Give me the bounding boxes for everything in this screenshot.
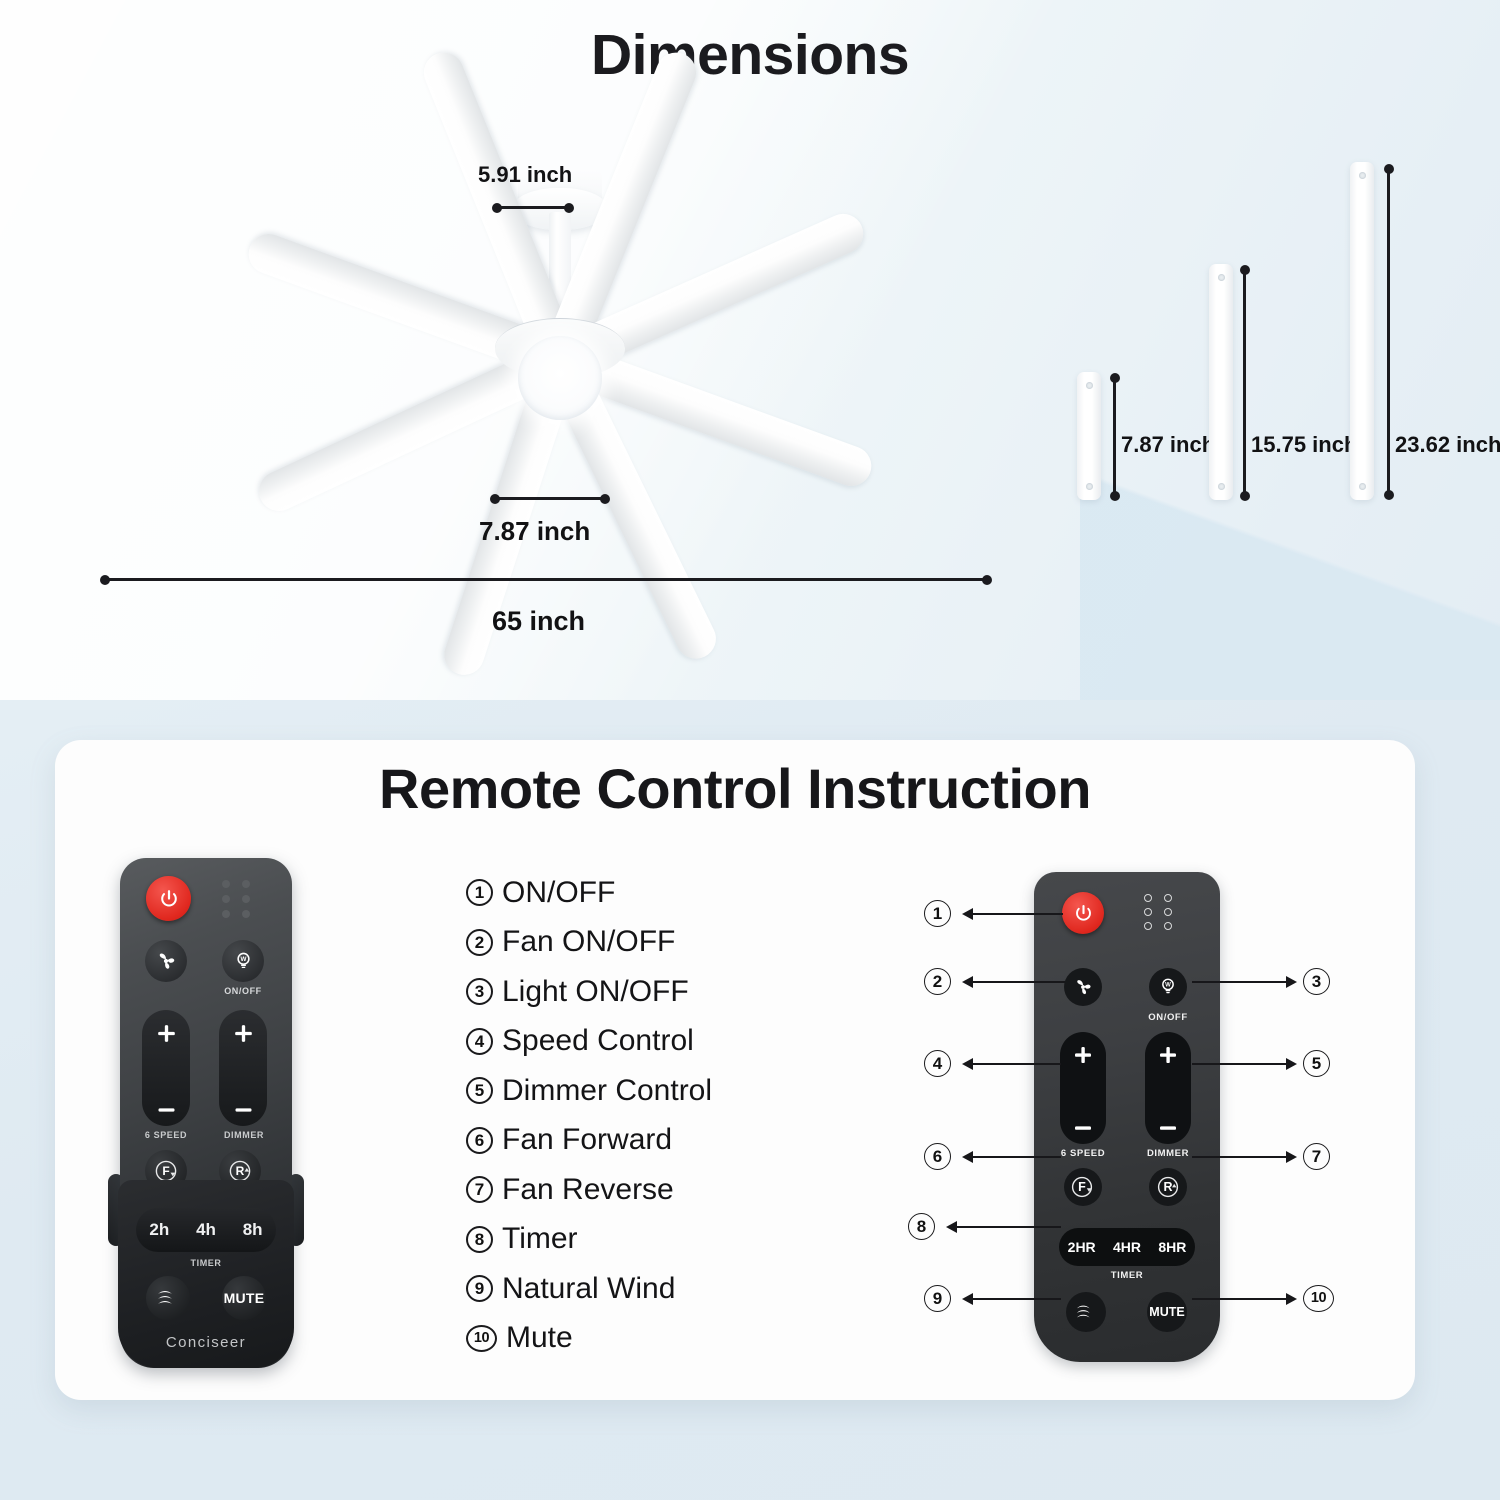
natural-wind-button[interactable] (146, 1276, 190, 1320)
fan-forward-button[interactable]: F (1064, 1168, 1102, 1206)
dimension-label-blade-span: 65 inch (492, 606, 585, 637)
callout-number: 10 (1303, 1285, 1334, 1312)
callout-arrow-2 (962, 976, 973, 988)
section-title-remote-control: Remote Control Instruction (55, 756, 1415, 821)
dimension-line-housing-width (492, 497, 608, 500)
light-onoff-button[interactable]: W (222, 940, 264, 982)
downrod-hole (1359, 483, 1366, 490)
minus-icon (1071, 1123, 1095, 1133)
legend-number: 9 (466, 1275, 493, 1302)
timer-caption: TIMER (1097, 1270, 1157, 1281)
brand-logo: Conciseer (118, 1334, 294, 1351)
callout-3: 3 (1303, 968, 1330, 995)
indicator-dots (1144, 894, 1172, 930)
callout-leader-line-5 (1192, 1063, 1292, 1065)
callout-leader-line-1 (973, 913, 1063, 915)
minus-icon (154, 1105, 179, 1115)
timer-2h-label: 2h (149, 1220, 169, 1240)
list-item: 4 Speed Control (466, 1017, 796, 1067)
callout-2: 2 (924, 968, 951, 995)
reverse-letter: R (1163, 1180, 1172, 1194)
svg-text:W: W (1165, 982, 1171, 988)
legend-number: 2 (466, 929, 493, 956)
downrod-hole (1218, 274, 1225, 281)
legend-label: Timer (502, 1222, 578, 1256)
callout-7: 7 (1303, 1143, 1330, 1170)
fan-onoff-button[interactable] (145, 940, 187, 982)
power-icon (158, 888, 180, 910)
legend-number: 10 (466, 1325, 497, 1352)
dimension-line-rod-15-75 (1243, 267, 1246, 499)
dimension-line-canopy-width (494, 206, 572, 209)
mute-label: MUTE (224, 1290, 265, 1306)
callout-leader-line-7 (1192, 1156, 1292, 1158)
callout-number: 1 (924, 900, 951, 927)
legend-number: 5 (466, 1077, 493, 1104)
dimmer-caption: DIMMER (1138, 1148, 1198, 1159)
legend-number: 4 (466, 1028, 493, 1055)
legend-label: Dimmer Control (502, 1074, 712, 1108)
power-icon (1073, 903, 1094, 924)
callout-arrow-4 (962, 1058, 973, 1070)
callout-arrow-7 (1286, 1151, 1297, 1163)
legend-label: ON/OFF (502, 876, 615, 910)
legend-label: Fan ON/OFF (502, 925, 675, 959)
downrod-hole (1218, 483, 1225, 490)
callout-4: 4 (924, 1050, 951, 1077)
dimension-label-housing-width: 7.87 inch (479, 516, 590, 547)
callout-number: 6 (924, 1143, 951, 1170)
callout-6: 6 (924, 1143, 951, 1170)
callout-arrow-3 (1286, 976, 1297, 988)
downrod-7-87 (1077, 372, 1101, 500)
reverse-arrow-icon: R (1153, 1172, 1183, 1202)
legend-number: 1 (466, 879, 493, 906)
remote-control-diagram: W ON/OFF 6 SPEED DIMMER F R (1034, 872, 1220, 1362)
legend-label: Mute (506, 1321, 573, 1355)
fan-reverse-button[interactable]: R (1149, 1168, 1187, 1206)
power-button[interactable] (146, 876, 191, 921)
downrod-23-62 (1350, 162, 1374, 500)
callout-number: 2 (924, 968, 951, 995)
dimension-label-rod-7-87: 7.87 inch (1121, 432, 1215, 458)
dimension-label-rod-15-75: 15.75 inch (1251, 432, 1357, 458)
callout-arrow-6 (962, 1151, 973, 1163)
mute-button[interactable]: MUTE (1147, 1292, 1187, 1332)
callout-1: 1 (924, 900, 951, 927)
wind-waves-icon (1074, 1302, 1098, 1322)
callout-leader-line-10 (1192, 1298, 1292, 1300)
legend-number: 6 (466, 1127, 493, 1154)
fan-onoff-button[interactable] (1064, 968, 1102, 1006)
legend-number: 8 (466, 1226, 493, 1253)
forward-letter: F (1078, 1180, 1086, 1194)
light-button-caption: ON/OFF (214, 986, 272, 996)
remote-control-photo: W ON/OFF 6 SPEED DIMMER F R (108, 858, 304, 1368)
downrod-hole (1359, 172, 1366, 179)
speed-caption: 6 SPEED (136, 1130, 196, 1140)
callout-number: 8 (908, 1213, 935, 1240)
timer-button-group[interactable]: 2HR 4HR 8HR (1059, 1228, 1195, 1266)
list-item: 2 Fan ON/OFF (466, 918, 796, 968)
callout-arrow-8 (946, 1221, 957, 1233)
list-item: 7 Fan Reverse (466, 1165, 796, 1215)
list-item: 5 Dimmer Control (466, 1066, 796, 1116)
callout-number: 5 (1303, 1050, 1330, 1077)
remote-function-legend: 1 ON/OFF 2 Fan ON/OFF 3 Light ON/OFF 4 S… (466, 868, 796, 1363)
callout-9: 9 (924, 1285, 951, 1312)
list-item: 10 Mute (466, 1314, 796, 1364)
wind-waves-icon (155, 1287, 181, 1309)
callout-5: 5 (1303, 1050, 1330, 1077)
legend-label: Natural Wind (502, 1272, 675, 1306)
callout-arrow-10 (1286, 1293, 1297, 1305)
callout-leader-line-2 (973, 981, 1065, 983)
callout-leader-line-8 (957, 1226, 1061, 1228)
legend-label: Light ON/OFF (502, 975, 689, 1009)
timer-4h-label: 4h (196, 1220, 216, 1240)
timer-caption: TIMER (176, 1258, 236, 1268)
legend-number: 7 (466, 1176, 493, 1203)
list-item: 8 Timer (466, 1215, 796, 1265)
timer-8h-label: 8h (243, 1220, 263, 1240)
list-item: 3 Light ON/OFF (466, 967, 796, 1017)
callout-leader-line-4 (973, 1063, 1061, 1065)
forward-letter: F (162, 1164, 169, 1178)
callout-leader-line-6 (973, 1156, 1061, 1158)
list-item: 6 Fan Forward (466, 1116, 796, 1166)
plus-icon (154, 1021, 179, 1046)
dimension-line-blade-span (102, 578, 990, 581)
dimmer-control-button[interactable] (219, 1010, 267, 1126)
callout-leader-line-9 (973, 1298, 1061, 1300)
plus-icon (1071, 1043, 1095, 1067)
legend-label: Speed Control (502, 1024, 694, 1058)
indicator-dots (222, 880, 250, 918)
dimension-line-rod-7-87 (1113, 375, 1116, 499)
page-title-dimensions: Dimensions (0, 22, 1500, 88)
minus-icon (1156, 1123, 1180, 1133)
light-bulb-icon: W (1157, 976, 1179, 998)
callout-number: 7 (1303, 1143, 1330, 1170)
timer-button-group[interactable]: 2h 4h 8h (136, 1208, 276, 1252)
callout-number: 3 (1303, 968, 1330, 995)
dimmer-caption: DIMMER (214, 1130, 274, 1140)
dimension-line-rod-23-62 (1387, 166, 1390, 498)
list-item: 1 ON/OFF (466, 868, 796, 918)
remote-diagram-body: W ON/OFF 6 SPEED DIMMER F R (1034, 872, 1220, 1362)
light-bulb-icon: W (232, 950, 255, 973)
fan-icon (1072, 976, 1094, 998)
legend-label: Fan Reverse (502, 1173, 674, 1207)
dimension-label-rod-23-62: 23.62 inch (1395, 432, 1500, 458)
fan-icon (154, 949, 178, 973)
callout-arrow-9 (962, 1293, 973, 1305)
minus-icon (231, 1105, 256, 1115)
plus-icon (231, 1021, 256, 1046)
plus-icon (1156, 1043, 1180, 1067)
legend-number: 3 (466, 978, 493, 1005)
light-button-caption: ON/OFF (1138, 1012, 1198, 1023)
downrod-15-75 (1209, 264, 1233, 500)
downrod-hole (1086, 382, 1093, 389)
timer-2hr-label: 2HR (1068, 1239, 1096, 1255)
downrod-hole (1086, 483, 1093, 490)
power-button[interactable] (1062, 892, 1104, 934)
mute-button[interactable]: MUTE (222, 1276, 266, 1320)
callout-8: 8 (908, 1213, 935, 1240)
speed-control-button[interactable] (142, 1010, 190, 1126)
dimmer-control-button[interactable] (1145, 1032, 1191, 1144)
callout-number: 9 (924, 1285, 951, 1312)
dimension-label-canopy-width: 5.91 inch (478, 162, 572, 188)
legend-label: Fan Forward (502, 1123, 672, 1157)
callout-arrow-1 (962, 908, 973, 920)
forward-arrow-icon: F (1068, 1172, 1098, 1202)
fan-led-light (518, 336, 602, 420)
callout-arrow-5 (1286, 1058, 1297, 1070)
remote-lower-panel: 2h 4h 8h TIMER MUTE Conciseer (118, 1180, 294, 1368)
svg-text:W: W (240, 955, 246, 962)
callout-number: 4 (924, 1050, 951, 1077)
timer-8hr-label: 8HR (1158, 1239, 1186, 1255)
mute-label: MUTE (1149, 1305, 1184, 1319)
reverse-letter: R (236, 1164, 245, 1178)
list-item: 9 Natural Wind (466, 1264, 796, 1314)
speed-caption: 6 SPEED (1053, 1148, 1113, 1159)
timer-4hr-label: 4HR (1113, 1239, 1141, 1255)
callout-10: 10 (1303, 1285, 1334, 1312)
speed-control-button[interactable] (1060, 1032, 1106, 1144)
natural-wind-button[interactable] (1066, 1292, 1106, 1332)
light-onoff-button[interactable]: W (1149, 968, 1187, 1006)
callout-leader-line-3 (1192, 981, 1292, 983)
